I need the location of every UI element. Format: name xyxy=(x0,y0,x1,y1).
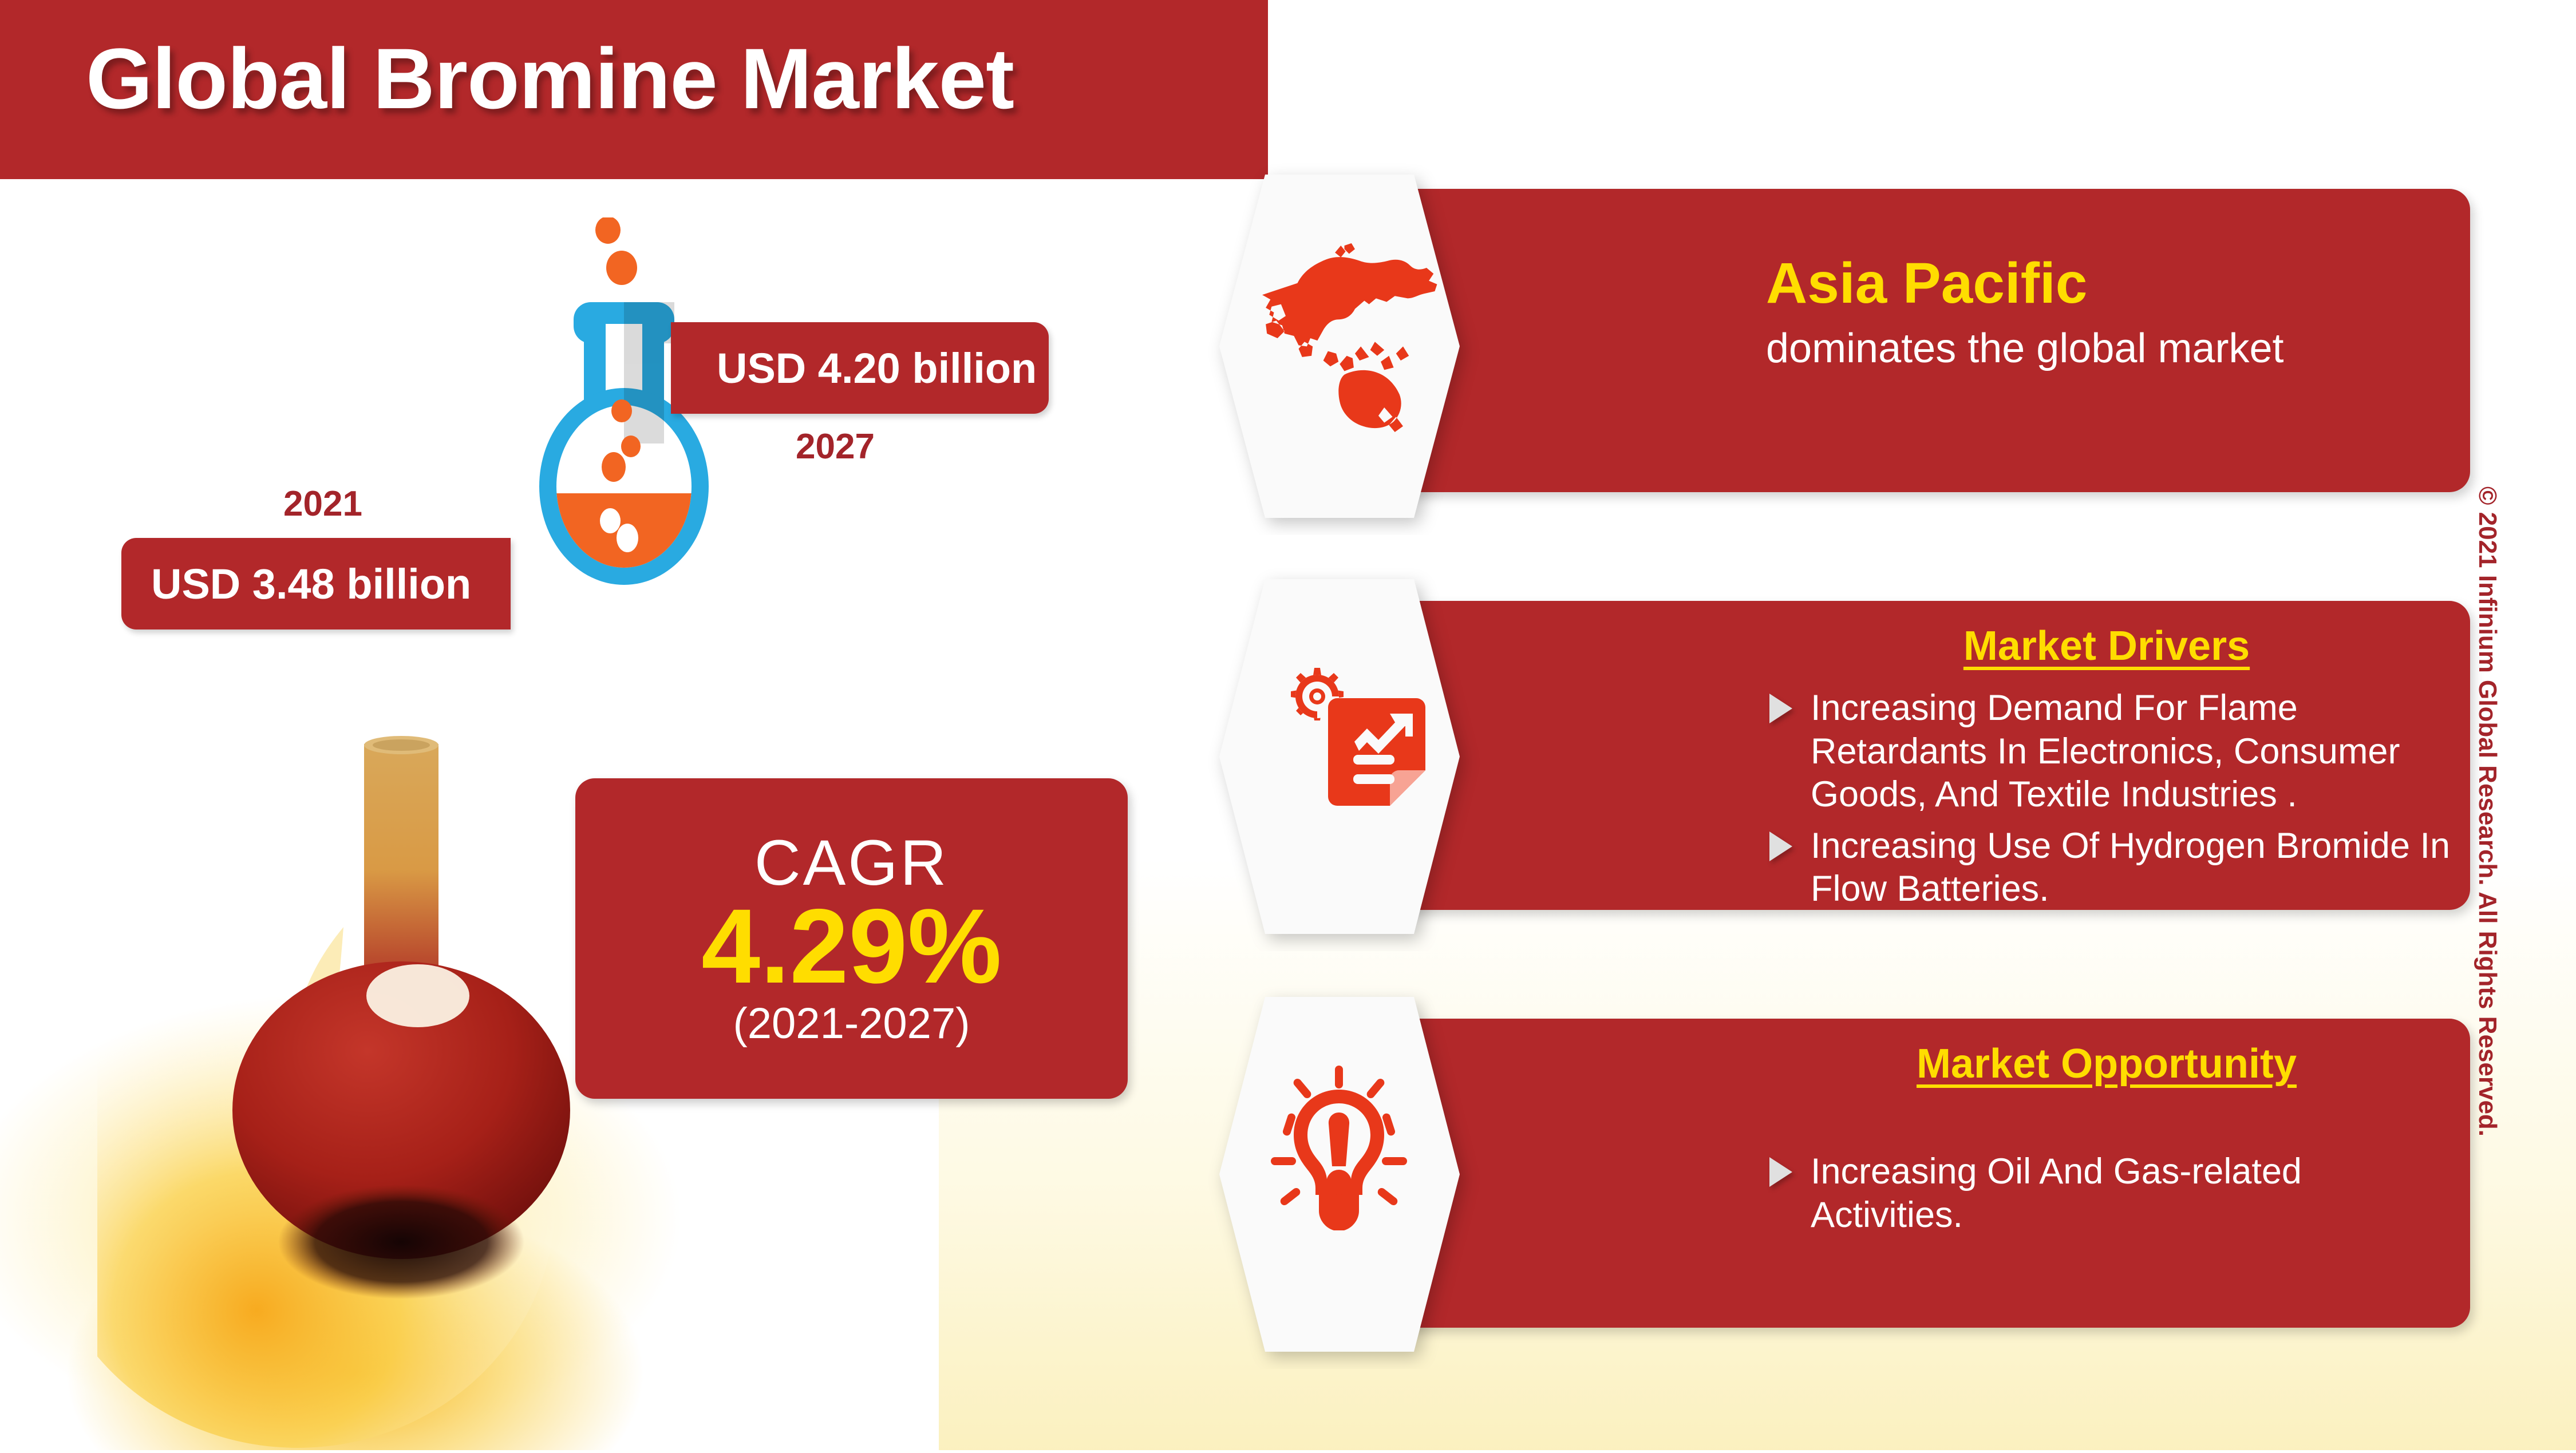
forecast-year-label: 2027 xyxy=(796,426,875,467)
region-panel: Asia Pacific dominates the global market xyxy=(1382,189,2470,492)
cagr-label: CAGR xyxy=(754,830,949,896)
opportunity-panel-body: Market Opportunity Increasing Oil And Ga… xyxy=(1766,1019,2447,1328)
copyright-notice: © 2021 Infinium Global Research. All Rig… xyxy=(2473,486,2502,1345)
list-item: Increasing Demand For Flame Retardants I… xyxy=(1766,687,2453,817)
base-year-label: 2021 xyxy=(283,484,362,524)
cagr-period: (2021-2027) xyxy=(733,1001,970,1047)
bullet-arrow-icon xyxy=(1769,832,1792,861)
page-title: Global Bromine Market xyxy=(86,35,1014,121)
cagr-value: 4.29% xyxy=(701,894,1002,1000)
bullet-arrow-icon xyxy=(1769,694,1792,723)
market-opportunity-panel: Market Opportunity Increasing Oil And Ga… xyxy=(1382,1019,2470,1328)
market-drivers-heading: Market Drivers xyxy=(1766,625,2447,668)
market-drivers-bullets: Increasing Demand For Flame Retardants I… xyxy=(1766,687,2453,919)
cagr-box: CAGR 4.29% (2021-2027) xyxy=(575,778,1128,1099)
forecast-value-label: USD 4.20 billion xyxy=(717,344,1037,393)
forecast-value-pill: USD 4.20 billion xyxy=(671,322,1049,414)
bullet-text: Increasing Demand For Flame Retardants I… xyxy=(1811,688,2400,814)
bullet-text: Increasing Oil And Gas-related Activitie… xyxy=(1811,1151,2302,1235)
region-subtitle: dominates the global market xyxy=(1766,326,2284,371)
list-item: Increasing Use Of Hydrogen Bromide In Fl… xyxy=(1766,825,2453,911)
market-drivers-panel: Market Drivers Increasing Demand For Fla… xyxy=(1382,601,2470,910)
bullet-arrow-icon xyxy=(1769,1157,1792,1187)
region-title: Asia Pacific xyxy=(1766,255,2087,312)
drivers-panel-body: Market Drivers Increasing Demand For Fla… xyxy=(1766,601,2447,910)
bullet-text: Increasing Use Of Hydrogen Bromide In Fl… xyxy=(1811,826,2450,909)
market-opportunity-bullets: Increasing Oil And Gas-related Activitie… xyxy=(1766,1150,2453,1245)
base-value-label: USD 3.48 billion xyxy=(151,560,471,608)
region-panel-body: Asia Pacific dominates the global market xyxy=(1766,189,2447,492)
bromine-flask-photo xyxy=(97,710,613,1453)
market-opportunity-heading: Market Opportunity xyxy=(1766,1043,2447,1086)
list-item: Increasing Oil And Gas-related Activitie… xyxy=(1766,1150,2453,1237)
base-value-pill: USD 3.48 billion xyxy=(121,538,511,629)
